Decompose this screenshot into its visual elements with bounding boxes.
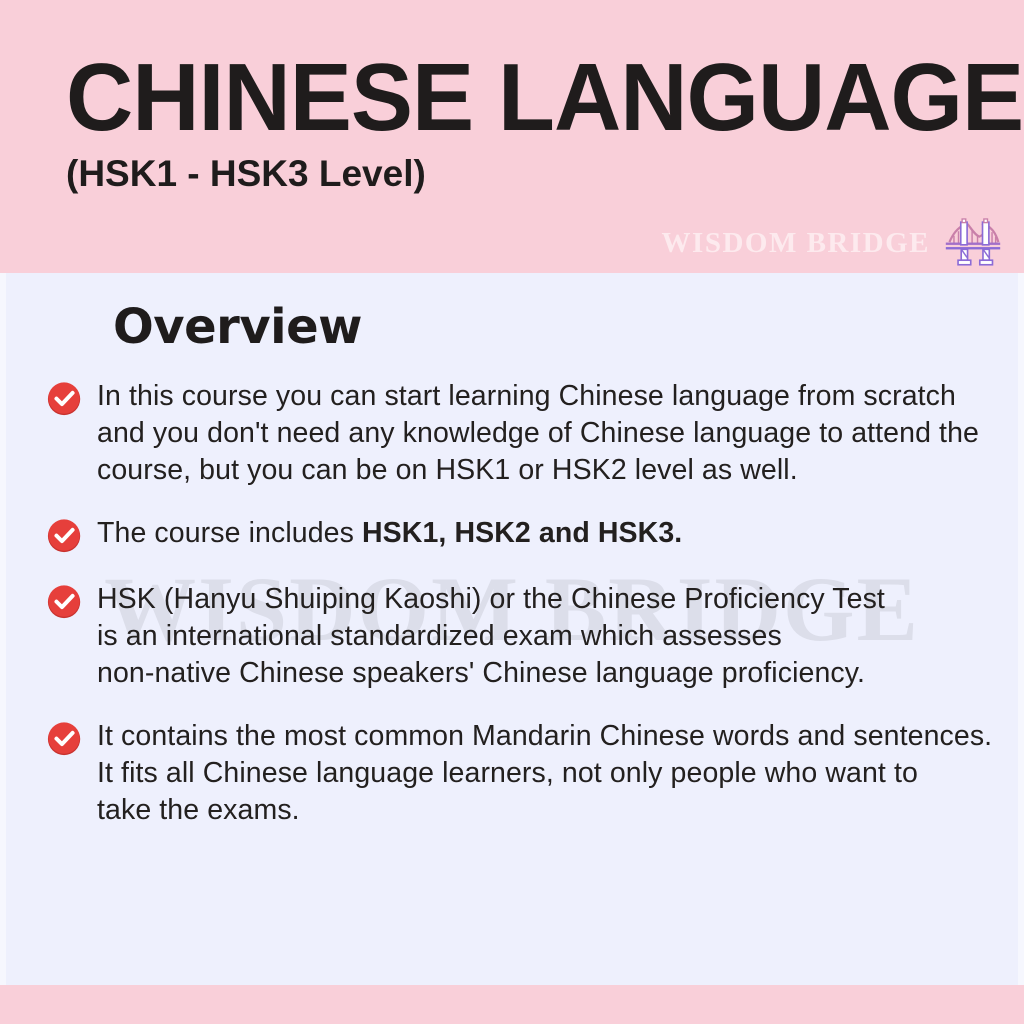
list-item-text: HSK (Hanyu Shuiping Kaoshi) or the Chine… [97, 581, 885, 692]
check-circle-icon [46, 720, 84, 758]
list-item-text-lead: HSK (Hanyu Shuiping Kaoshi) or the Chine… [97, 583, 885, 689]
page-subtitle: (HSK1 - HSK3 Level) [66, 155, 426, 192]
bridge-icon [944, 216, 1002, 270]
list-item: HSK (Hanyu Shuiping Kaoshi) or the Chine… [46, 581, 1006, 692]
page-title: CHINESE LANGUAGE [66, 50, 1023, 146]
brand-wordmark: WISDOM BRIDGE [662, 227, 930, 260]
course-overview-poster: CHINESE LANGUAGE (HSK1 - HSK3 Level) WIS… [0, 0, 1024, 1024]
overview-bullet-list: In this course you can start learning Ch… [46, 378, 1006, 855]
brand-lockup: WISDOM BRIDGE [662, 216, 1002, 270]
footer-band [0, 985, 1024, 1024]
check-circle-icon [46, 583, 84, 621]
check-circle-icon [46, 517, 84, 555]
canvas-edge-left [0, 273, 6, 985]
list-item-text: The course includes HSK1, HSK2 and HSK3. [97, 515, 682, 552]
list-item: In this course you can start learning Ch… [46, 378, 1006, 489]
check-circle-icon [46, 380, 84, 418]
list-item-text-lead: In this course you can start learning Ch… [97, 380, 979, 486]
list-item-text-lead: The course includes [97, 517, 362, 549]
list-item-text-lead: It contains the most common Mandarin Chi… [97, 720, 992, 826]
section-heading-overview: Overview [113, 303, 362, 351]
canvas-edge-right [1018, 273, 1024, 985]
list-item-text: It contains the most common Mandarin Chi… [97, 718, 992, 829]
list-item-text: In this course you can start learning Ch… [97, 378, 979, 489]
list-item: The course includes HSK1, HSK2 and HSK3. [46, 515, 1006, 555]
header-band: CHINESE LANGUAGE (HSK1 - HSK3 Level) WIS… [0, 0, 1024, 273]
main-content: Overview In this course you can start le… [0, 273, 1024, 985]
list-item-text-bold: HSK1, HSK2 and HSK3. [362, 517, 682, 549]
list-item: It contains the most common Mandarin Chi… [46, 718, 1006, 829]
